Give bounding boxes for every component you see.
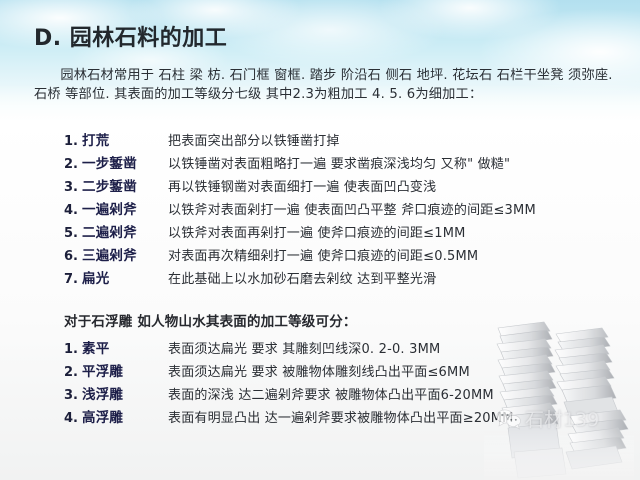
list-item: 3. 二步錾凿 再以铁锤钢凿对表面细打一遍 使表面凹凸变浅 [64,175,630,198]
list-item-term: 平浮雕 [82,360,168,380]
list-item: 1. 素平 表面须达扁光 要求 其雕刻凹线深0. 2-0. 3MM [64,337,630,360]
list-item-description: 表面的深浅 达二遍剁斧要求 被雕物体凸出平面6-20MM [168,384,494,403]
list-item-number: 2. [64,157,82,172]
presentation-slide: D. 园林石料的加工 园林石材常用于 石柱 梁 枋. 石门框 窗框. 踏步 阶沿… [0,0,640,480]
list-item: 1. 打荒 把表面突出部分以铁锤凿打掉 [64,129,630,152]
list-item-term: 打荒 [82,129,168,149]
list-item: 2. 平浮雕 表面须达扁光 要求 被雕物体雕刻线凸出平面≤6MM [64,360,630,383]
list-item: 6. 三遍剁斧 对表面再次精细剁打一遍 使斧口痕迹的间距≤0.5MM [64,244,630,267]
list-item-description: 表面须达扁光 要求 其雕刻凹线深0. 2-0. 3MM [168,338,440,357]
list-item-description: 以铁锤凿对表面粗略打一遍 要求凿痕深浅均匀 又称" 做糙" [168,153,510,172]
list-item-description: 把表面突出部分以铁锤凿打掉 [168,130,340,149]
watermark-text: 石材139 [525,405,599,432]
wechat-icon [496,408,522,430]
list-item-term: 一遍剁斧 [82,198,168,218]
list-item-number: 3. [64,180,82,195]
watermark: 石材139 [496,405,599,432]
page-title: D. 园林石料的加工 [34,20,227,52]
list-item-description: 以铁斧对表面剁打一遍 使表面凹凸平整 斧口痕迹的间距≤3MM [168,199,536,218]
list-item-term: 扁光 [82,267,168,287]
list-item-description: 以铁斧对表面再剁打一遍 使斧口痕迹的间距≤1MM [168,222,466,241]
list-item-number: 6. [64,249,82,264]
list-item-number: 1. [64,134,82,149]
list-item-number: 2. [64,365,82,380]
list-item-number: 4. [64,411,82,426]
list-item-term: 二遍剁斧 [82,221,168,241]
list-item: 4. 一遍剁斧 以铁斧对表面剁打一遍 使表面凹凸平整 斧口痕迹的间距≤3MM [64,198,630,221]
list-item-term: 浅浮雕 [82,383,168,403]
list-item-description: 在此基础上以水加砂石磨去剁纹 达到平整光滑 [168,268,436,287]
list-item-number: 1. [64,342,82,357]
list-item: 2. 一步錾凿 以铁锤凿对表面粗略打一遍 要求凿痕深浅均匀 又称" 做糙" [64,152,630,175]
list-item: 7. 扁光 在此基础上以水加砂石磨去剁纹 达到平整光滑 [64,267,630,290]
relief-section-heading: 对于石浮雕 如人物山水其表面的加工等级可分： [64,310,357,330]
list-item: 3. 浅浮雕 表面的深浅 达二遍剁斧要求 被雕物体凸出平面6-20MM [64,383,630,406]
slide-content: D. 园林石料的加工 园林石材常用于 石柱 梁 枋. 石门框 窗框. 踏步 阶沿… [0,0,640,480]
list-item-description: 再以铁锤钢凿对表面细打一遍 使表面凹凸变浅 [168,176,436,195]
list-item-number: 3. [64,388,82,403]
list-item-description: 表面有明显凸出 达一遍剁斧要求被雕物体凸出平面≥20MM [168,407,514,426]
list-item-number: 7. [64,272,82,287]
list-item-term: 一步錾凿 [82,152,168,172]
processing-grades-list: 1. 打荒 把表面突出部分以铁锤凿打掉 2. 一步錾凿 以铁锤凿对表面粗略打一遍… [64,129,630,290]
list-item-term: 二步錾凿 [82,175,168,195]
list-item-description: 对表面再次精细剁打一遍 使斧口痕迹的间距≤0.5MM [168,245,478,264]
list-item-number: 5. [64,226,82,241]
list-item-number: 4. [64,203,82,218]
list-item: 5. 二遍剁斧 以铁斧对表面再剁打一遍 使斧口痕迹的间距≤1MM [64,221,630,244]
intro-paragraph: 园林石材常用于 石柱 梁 枋. 石门框 窗框. 踏步 阶沿石 侧石 地坪. 花坛… [34,66,624,104]
list-item-term: 高浮雕 [82,406,168,426]
list-item-term: 三遍剁斧 [82,244,168,264]
list-item-description: 表面须达扁光 要求 被雕物体雕刻线凸出平面≤6MM [168,361,470,380]
list-item-term: 素平 [82,337,168,357]
